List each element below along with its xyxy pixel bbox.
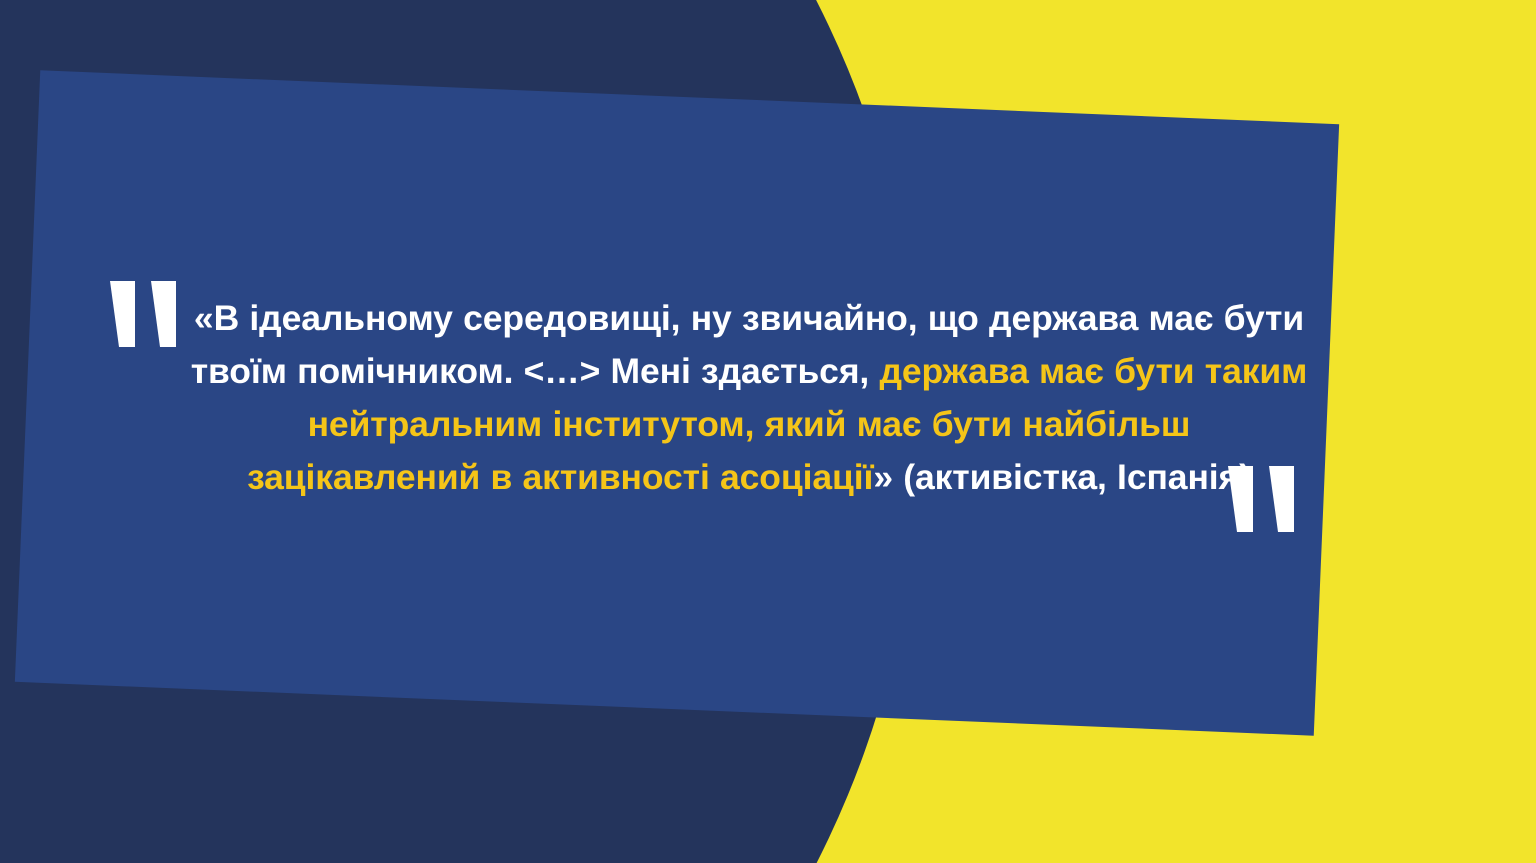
closing-quotation-mark-icon — [1228, 466, 1294, 532]
quote-bar-left — [1228, 466, 1253, 532]
quote-bar-left — [110, 281, 135, 347]
quote-content-layer: «В ідеальному середовищі, ну звичайно, щ… — [0, 0, 1536, 863]
slide-canvas: «В ідеальному середовищі, ну звичайно, щ… — [0, 0, 1536, 863]
opening-quotation-mark-icon — [110, 281, 176, 347]
quote-bar-right — [151, 281, 176, 347]
quote-text: «В ідеальному середовищі, ну звичайно, щ… — [188, 292, 1310, 504]
quote-attribution: » (активістка, Іспанія) — [873, 457, 1251, 497]
quote-bar-right — [1269, 466, 1294, 532]
